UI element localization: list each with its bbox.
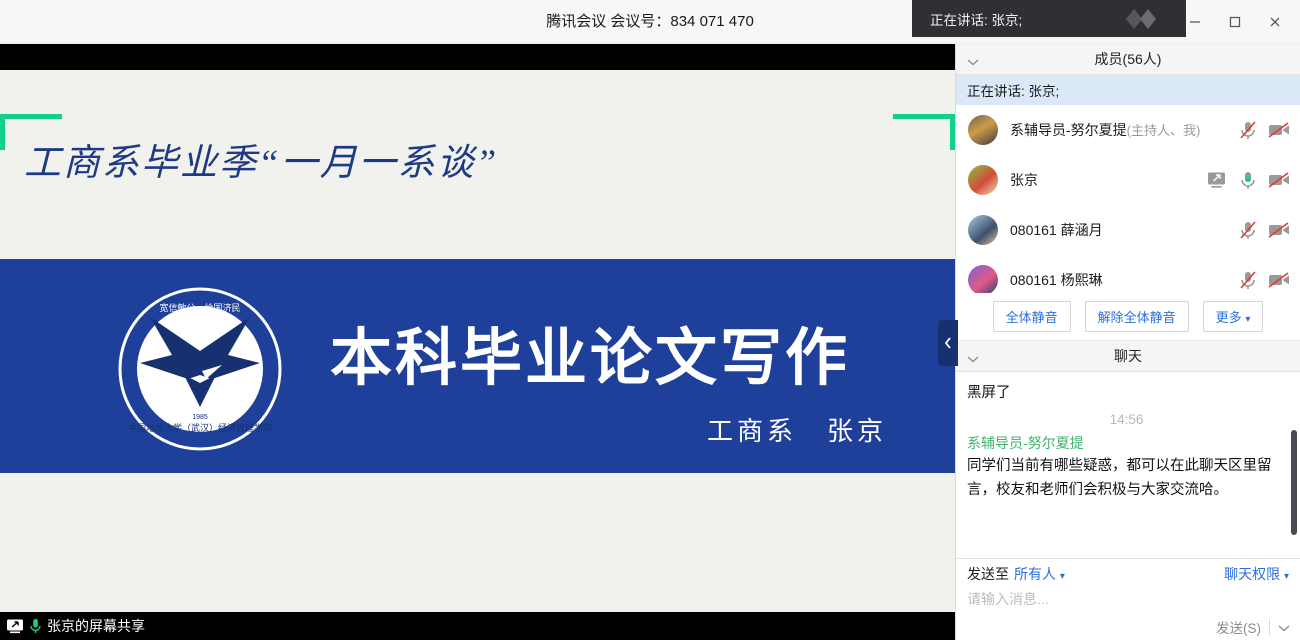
chat-message-list[interactable]: 黑屏了 14:56 系辅导员-努尔夏提 同学们当前有哪些疑惑，都可以在此聊天区里… [956, 372, 1300, 558]
svg-text:1985: 1985 [192, 414, 208, 421]
collapse-panel-button[interactable] [938, 320, 958, 366]
divider [1269, 619, 1270, 635]
slide-main-title: 本科毕业论文写作 [330, 307, 850, 397]
share-border-marker [0, 114, 62, 119]
participants-header[interactable]: 成员(56人) [956, 44, 1300, 75]
avatar [968, 165, 998, 195]
chat-timestamp: 14:56 [967, 412, 1286, 427]
participant-name: 080161 杨熙琳 [1010, 270, 1239, 290]
camera-muted-icon[interactable] [1268, 271, 1290, 289]
microphone-muted-icon[interactable] [1239, 220, 1257, 240]
unmute-all-button[interactable]: 解除全体静音 [1085, 301, 1189, 332]
chat-sender-name: 系辅导员-努尔夏提 [967, 433, 1286, 453]
active-speaker-badge: 正在讲话: 张京; [912, 0, 1186, 37]
send-to-label: 发送至 [967, 564, 1009, 584]
screen-share-icon [6, 618, 24, 634]
share-status-text: 张京的屏幕共享 [47, 616, 145, 636]
microphone-active-icon[interactable] [1239, 170, 1257, 190]
send-button[interactable]: 发送(S) [1216, 617, 1261, 637]
speaking-banner-text: 正在讲话: 张京; [967, 80, 1059, 100]
chat-input-placeholder: 请输入消息... [967, 591, 1049, 607]
participant-list[interactable]: 系辅导员-努尔夏提(主持人、我) [956, 105, 1300, 293]
chat-composer: 发送至 所有人 ▾ 聊天权限 ▾ 请输入消息... 发送(S) [956, 558, 1300, 640]
share-border-marker [0, 114, 5, 150]
caret-down-icon: ▾ [1245, 314, 1250, 325]
participant-status-icons [1239, 220, 1290, 240]
chat-permission-button[interactable]: 聊天权限 ▾ [1224, 564, 1289, 584]
slide-title: 工商系毕业季“一月一系谈” [24, 132, 498, 186]
screen-share-icon[interactable] [1206, 171, 1228, 189]
participant-row[interactable]: 系辅导员-努尔夏提(主持人、我) [956, 105, 1300, 155]
svg-text:宽信敏公 绘国济民: 宽信敏公 绘国济民 [159, 302, 240, 313]
chevron-down-icon [967, 53, 979, 69]
slide-banner: 中国地质大学（武汉）经济管理学院 1985 宽信敏公 绘国济民 本科毕业论文写作… [0, 259, 955, 473]
participant-row[interactable]: 080161 杨熙琳 [956, 255, 1300, 293]
camera-muted-icon[interactable] [1268, 171, 1290, 189]
camera-muted-icon[interactable] [1268, 121, 1290, 139]
avatar [968, 265, 998, 293]
participant-status-icons [1239, 270, 1290, 290]
svg-text:中国地质大学（武汉）经济管理学院: 中国地质大学（武汉）经济管理学院 [128, 422, 272, 433]
more-button[interactable]: 更多 ▾ [1203, 301, 1264, 332]
participant-row[interactable]: 张京 [956, 155, 1300, 205]
caret-down-icon: ▾ [1284, 571, 1289, 582]
close-icon[interactable] [1258, 7, 1292, 37]
participant-name: 系辅导员-努尔夏提(主持人、我) [1010, 120, 1239, 140]
camera-muted-icon[interactable] [1268, 221, 1290, 239]
participant-name: 张京 [1010, 170, 1206, 190]
chat-title: 聊天 [1114, 346, 1142, 366]
participant-row[interactable]: 080161 薛涵月 [956, 205, 1300, 255]
composer-toolbar: 发送至 所有人 ▾ 聊天权限 ▾ [956, 559, 1300, 589]
chat-message-text: 黑屏了 [967, 382, 1286, 404]
microphone-muted-icon[interactable] [1239, 120, 1257, 140]
participant-name: 080161 薛涵月 [1010, 220, 1239, 240]
share-border-marker [893, 114, 955, 119]
university-emblem-icon: 中国地质大学（武汉）经济管理学院 1985 宽信敏公 绘国济民 [110, 279, 290, 459]
chat-message: 系辅导员-努尔夏提 同学们当前有哪些疑惑，都可以在此聊天区里留言，校友和老师们会… [967, 433, 1286, 503]
active-speaker-label: 正在讲话: 张京; [930, 9, 1022, 29]
participants-title: 成员(56人) [1095, 49, 1162, 69]
avatar [968, 115, 998, 145]
chat-message-text: 同学们当前有哪些疑惑，都可以在此聊天区里留言，校友和老师们会积极与大家交流哈。 [967, 455, 1286, 503]
side-panel: 成员(56人) 正在讲话: 张京; 系辅导员-努尔夏提(主持人、我) [955, 44, 1300, 640]
meeting-window: 腾讯会议 会议号：834 071 470 正在讲话: 张京; 工商系毕业季“一月… [0, 0, 1300, 640]
microphone-muted-icon[interactable] [1239, 270, 1257, 290]
app-logo-icon [1112, 5, 1174, 33]
chat-scrollbar-thumb[interactable] [1291, 430, 1297, 535]
composer-actions: 发送(S) [1216, 617, 1290, 637]
microphone-icon [29, 618, 42, 634]
avatar [968, 215, 998, 245]
screen-share-area: 工商系毕业季“一月一系谈” 中国地质大学（武汉）经济管理学院 1985 宽信敏公… [0, 44, 955, 640]
slide-subtitle: 工商系 张京 [707, 411, 887, 448]
maximize-icon[interactable] [1218, 7, 1252, 37]
share-border-marker [950, 114, 955, 150]
chevron-left-icon [943, 336, 953, 350]
send-options-chevron-icon[interactable] [1278, 620, 1290, 635]
participant-role-tag: (主持人、我) [1127, 123, 1201, 138]
share-status-bar: 张京的屏幕共享 [0, 612, 955, 640]
chevron-down-icon [967, 350, 979, 366]
send-to-selector[interactable]: 所有人 ▾ [1014, 564, 1065, 584]
participant-actions: 全体静音 解除全体静音 更多 ▾ [956, 293, 1300, 341]
chat-header[interactable]: 聊天 [956, 341, 1300, 372]
window-controls [1178, 0, 1292, 44]
speaking-banner: 正在讲话: 张京; [956, 75, 1300, 105]
participant-status-icons [1239, 120, 1290, 140]
mute-all-button[interactable]: 全体静音 [993, 301, 1071, 332]
chat-input[interactable]: 请输入消息... [956, 589, 1300, 609]
participant-status-icons [1206, 170, 1290, 190]
caret-down-icon: ▾ [1060, 571, 1065, 582]
shared-slide: 工商系毕业季“一月一系谈” 中国地质大学（武汉）经济管理学院 1985 宽信敏公… [0, 70, 955, 615]
